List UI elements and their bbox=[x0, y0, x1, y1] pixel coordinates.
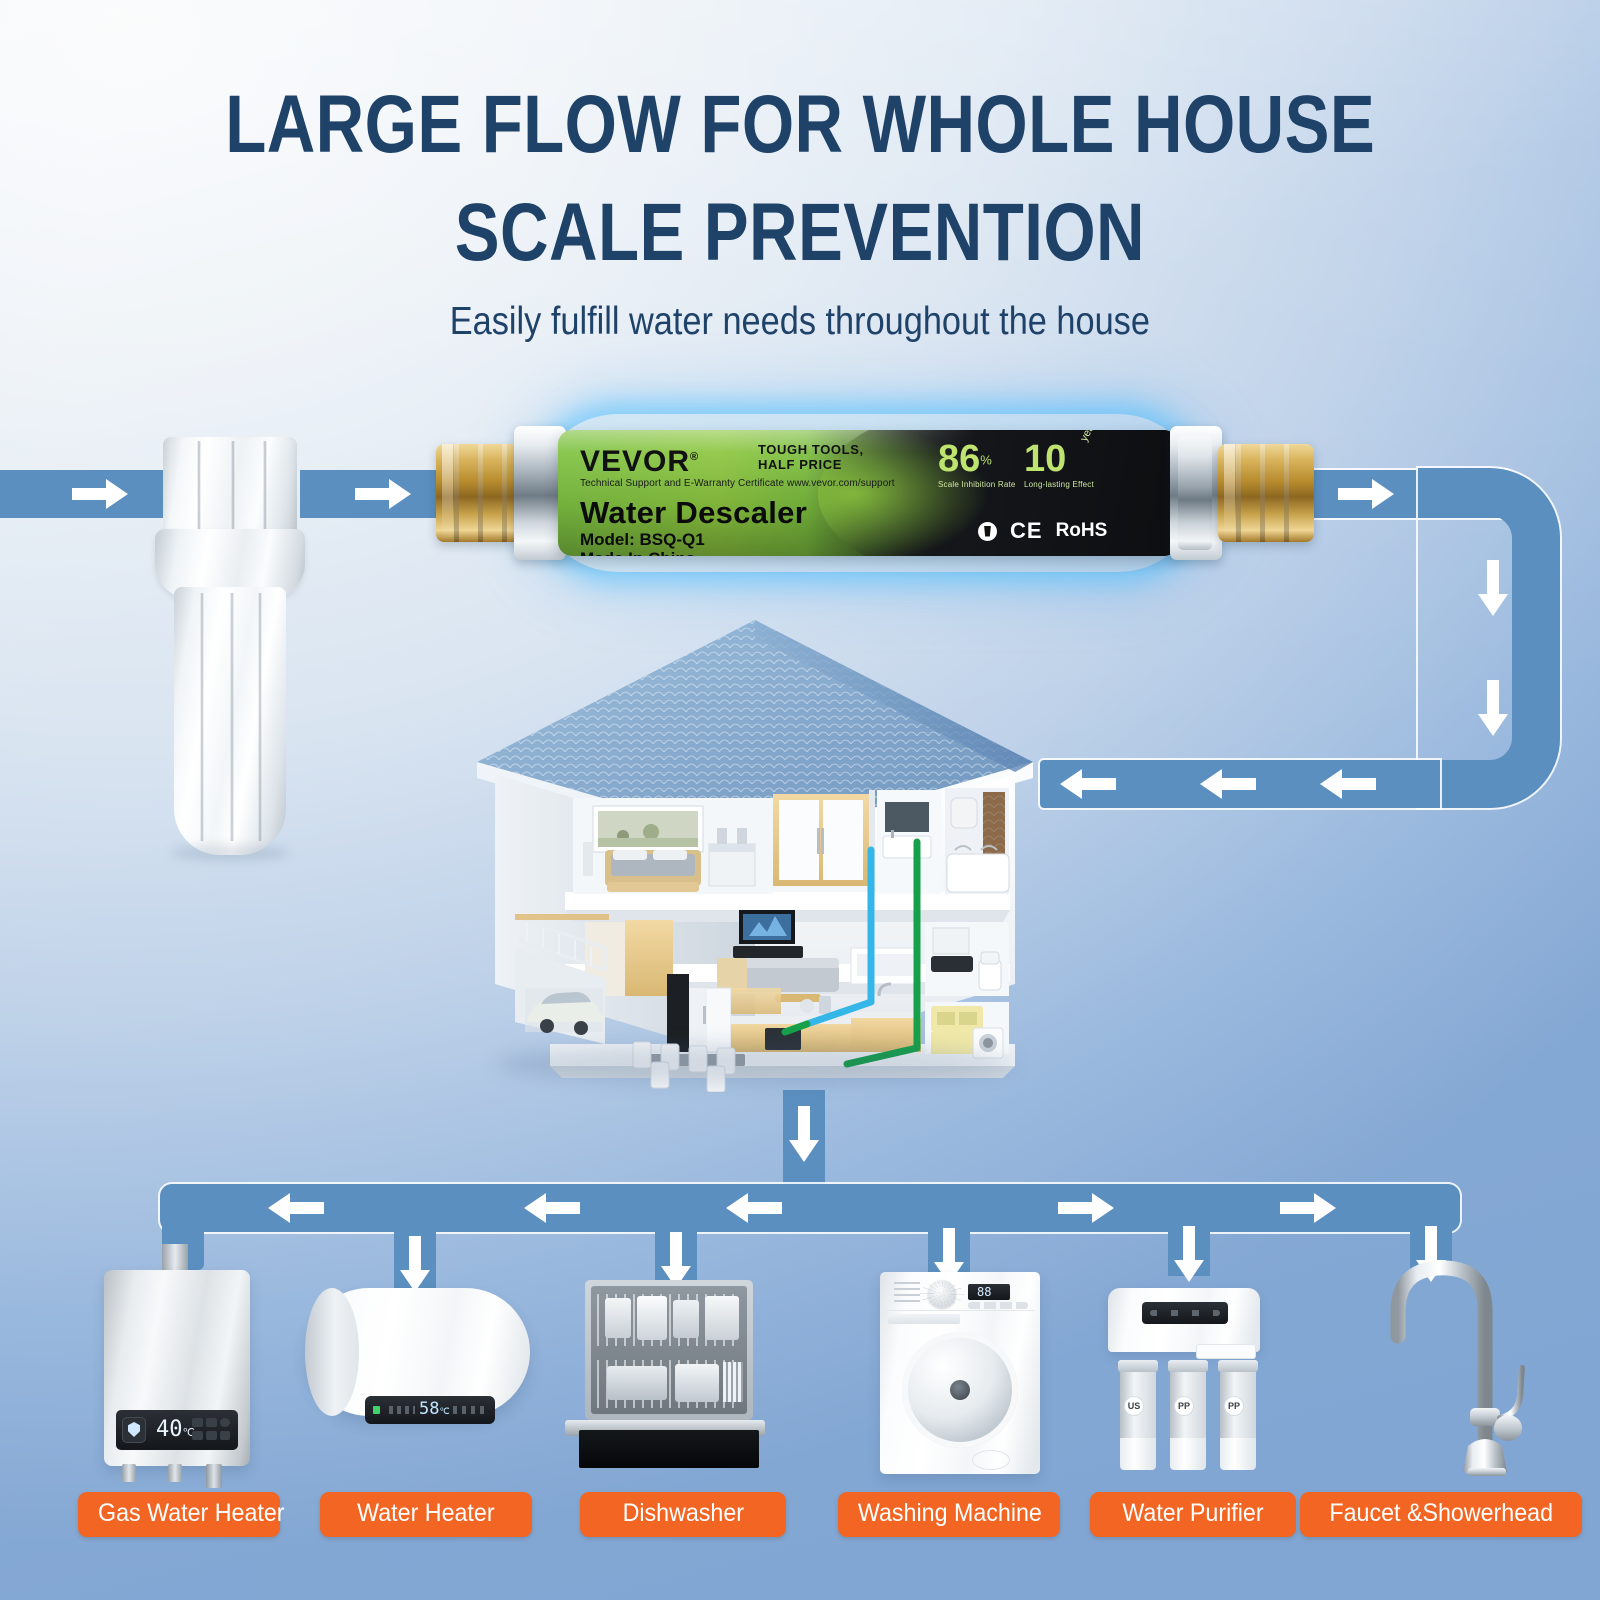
subtitle-text: Easily fulfill water needs throughout th… bbox=[450, 300, 1150, 344]
purifier-display bbox=[1142, 1302, 1228, 1324]
arrow-manifold-right-2 bbox=[1280, 1193, 1336, 1223]
arrow-drop-water-purifier bbox=[1174, 1226, 1204, 1282]
product-model: Model: BSQ-Q1 bbox=[580, 530, 705, 549]
prefilter-shadow bbox=[171, 845, 289, 861]
headline-line-2-text: SCALE PREVENTION bbox=[455, 192, 1145, 274]
cutaway-house-illustration bbox=[455, 592, 1055, 1092]
appliance-gas-water-heater: 40℃ bbox=[100, 1244, 270, 1484]
headline-line-2: SCALE PREVENTION bbox=[0, 192, 1600, 274]
label-water-heater-text: Water Heater bbox=[357, 1501, 494, 1526]
washer-display-value: 88 bbox=[977, 1285, 991, 1299]
washer-control-panel[interactable]: 88 bbox=[886, 1278, 1034, 1311]
gas-heater-control-panel: 40℃ bbox=[116, 1410, 238, 1450]
stat-scale-inhibition: 86% Scale Inhibition Rate bbox=[938, 440, 1016, 489]
arrow-down-right-1 bbox=[1478, 560, 1508, 616]
label-washing-machine: Washing Machine bbox=[838, 1492, 1060, 1537]
rohs-mark: RoHS bbox=[1056, 520, 1108, 542]
label-faucet-showerhead-text: Faucet &Showerhead bbox=[1329, 1501, 1553, 1526]
washer-labels bbox=[894, 1282, 920, 1304]
certification-marks: CE RoHS bbox=[978, 518, 1107, 544]
label-water-heater: Water Heater bbox=[320, 1492, 532, 1537]
gas-heater-pipes bbox=[100, 1464, 254, 1486]
appliance-dishwasher bbox=[565, 1280, 765, 1470]
water-heater-right-icons bbox=[453, 1406, 487, 1414]
headline-line-1: LARGE FLOW FOR WHOLE HOUSE bbox=[0, 84, 1600, 166]
purifier-sticker bbox=[1196, 1344, 1256, 1359]
appliance-water-heater: 58℃ bbox=[305, 1288, 530, 1458]
washer-drum-hub bbox=[950, 1380, 970, 1400]
label-dishwasher-text: Dishwasher bbox=[622, 1501, 743, 1526]
label-gas-water-heater-text: Gas Water Heater bbox=[98, 1501, 284, 1526]
arrow-manifold-left-2 bbox=[524, 1193, 580, 1223]
washer-buttons[interactable] bbox=[968, 1302, 1028, 1309]
appliance-washing-machine: 88 bbox=[880, 1272, 1040, 1480]
product-name: Water Descaler bbox=[580, 496, 807, 529]
water-heater-end-cap bbox=[305, 1288, 359, 1416]
washer-filter-cap[interactable] bbox=[972, 1450, 1010, 1470]
brand-logo: VEVOR® bbox=[580, 442, 699, 477]
gas-heater-temp-display: 40℃ bbox=[156, 1418, 195, 1445]
water-heater-power-led bbox=[373, 1406, 380, 1414]
registered-mark: ® bbox=[690, 451, 699, 463]
arrow-outlet-right bbox=[1338, 479, 1394, 509]
stat-caption-2: Long-lasting Effect bbox=[1024, 480, 1094, 489]
brand-slogan: TOUGH TOOLS, HALF PRICE bbox=[758, 442, 864, 472]
arrow-drop-water-heater bbox=[400, 1236, 430, 1292]
arrow-inlet-right bbox=[72, 479, 128, 509]
prefilter-housing bbox=[155, 437, 305, 857]
support-line: Technical Support and E-Warranty Certifi… bbox=[580, 478, 895, 489]
house-shadow bbox=[495, 1044, 1015, 1084]
label-faucet-showerhead: Faucet &Showerhead bbox=[1300, 1492, 1582, 1537]
slogan-line-1: TOUGH TOOLS, bbox=[758, 442, 864, 457]
cartridge: US bbox=[1118, 1360, 1158, 1470]
appliance-faucet-showerhead bbox=[1340, 1250, 1530, 1486]
cartridge-badge-1: US bbox=[1124, 1396, 1144, 1416]
dishwasher-front-panel bbox=[579, 1430, 759, 1468]
infographic-canvas: LARGE FLOW FOR WHOLE HOUSE SCALE PREVENT… bbox=[0, 0, 1600, 1600]
wheelie-bin-icon bbox=[978, 522, 997, 541]
gas-heater-flue bbox=[162, 1244, 188, 1272]
ce-mark: CE bbox=[1010, 518, 1043, 544]
stat-longlasting: 10 years Long-lasting Effect bbox=[1024, 440, 1094, 489]
stat-value-2: 10 bbox=[1024, 438, 1066, 480]
water-heater-icons bbox=[389, 1406, 415, 1414]
gas-heater-temp-value: 40 bbox=[156, 1417, 183, 1442]
stat-unit-1: % bbox=[980, 453, 992, 468]
headline-line-1-text: LARGE FLOW FOR WHOLE HOUSE bbox=[225, 84, 1375, 166]
gas-heater-buttons[interactable] bbox=[192, 1418, 232, 1442]
label-washing-machine-text: Washing Machine bbox=[858, 1501, 1042, 1526]
hex-nut-right bbox=[1178, 436, 1212, 550]
arrow-down-right-2 bbox=[1478, 680, 1508, 736]
purifier-cartridge-row: US PP PP bbox=[1114, 1360, 1262, 1470]
dishwasher-tub bbox=[585, 1280, 753, 1420]
faucet-svg bbox=[1340, 1250, 1530, 1486]
stat-caption-1: Scale Inhibition Rate bbox=[938, 480, 1016, 489]
water-descaler-device: VEVOR® TOUGH TOOLS, HALF PRICE Technical… bbox=[418, 408, 1318, 578]
prefilter-body bbox=[174, 587, 286, 855]
washer-display: 88 bbox=[968, 1284, 1010, 1300]
arrow-return-left-1 bbox=[1060, 769, 1116, 799]
label-dishwasher: Dishwasher bbox=[580, 1492, 786, 1537]
arrow-after-prefilter-right bbox=[355, 479, 411, 509]
washer-drawer[interactable] bbox=[888, 1314, 960, 1324]
slogan-line-2: HALF PRICE bbox=[758, 457, 864, 472]
label-water-purifier: Water Purifier bbox=[1090, 1492, 1296, 1537]
subtitle: Easily fulfill water needs throughout th… bbox=[0, 300, 1600, 344]
arrow-manifold-right-1 bbox=[1058, 1193, 1114, 1223]
washer-dial-ticks bbox=[920, 1282, 964, 1306]
cartridge: PP bbox=[1218, 1360, 1258, 1470]
arrow-return-left-3 bbox=[1320, 769, 1376, 799]
product-origin: Made In China bbox=[580, 549, 695, 556]
pipe-manifold-bar bbox=[160, 1184, 1460, 1232]
label-water-purifier-text: Water Purifier bbox=[1122, 1501, 1263, 1526]
pipe-right-uturn bbox=[1418, 468, 1560, 808]
label-gas-water-heater: Gas Water Heater bbox=[78, 1492, 280, 1537]
purifier-indicator-dots bbox=[1150, 1310, 1220, 1316]
water-heater-temp-value: 58 bbox=[419, 1399, 439, 1419]
cartridge-badge-2: PP bbox=[1174, 1396, 1194, 1416]
house-svg bbox=[455, 592, 1055, 1092]
cartridge: PP bbox=[1168, 1360, 1208, 1470]
water-heater-control-panel: 58℃ bbox=[365, 1396, 495, 1424]
arrow-manifold-left-1 bbox=[268, 1193, 324, 1223]
water-heater-temp-unit: ℃ bbox=[439, 1407, 449, 1417]
arrow-house-outlet-down bbox=[789, 1106, 819, 1162]
arrow-manifold-left-3 bbox=[726, 1193, 782, 1223]
appliance-water-purifier: US PP PP bbox=[1108, 1288, 1268, 1478]
cartridge-badge-3: PP bbox=[1224, 1396, 1244, 1416]
arrow-return-left-2 bbox=[1200, 769, 1256, 799]
device-label-barrel: VEVOR® TOUGH TOOLS, HALF PRICE Technical… bbox=[558, 430, 1178, 556]
brass-fitting-right bbox=[1218, 444, 1314, 542]
stat-value-1: 86 bbox=[938, 438, 980, 480]
brand-name: VEVOR bbox=[580, 445, 690, 478]
water-heater-temp-display: 58℃ bbox=[419, 1400, 450, 1422]
